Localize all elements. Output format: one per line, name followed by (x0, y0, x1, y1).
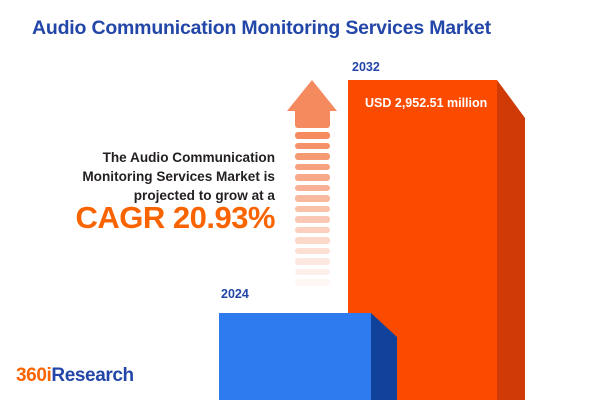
arrow-stripe (295, 206, 330, 213)
arrow-stripe (295, 248, 330, 255)
arrow-stripe (295, 195, 330, 202)
arrow-stripe (295, 164, 330, 171)
logo-360i: 360i (16, 365, 51, 386)
arrow-stripe (295, 290, 330, 297)
logo-research: Research (51, 365, 133, 386)
bar-2024-face (219, 313, 371, 400)
arrow-stripe (295, 216, 330, 223)
market-statement: The Audio Communication Monitoring Servi… (30, 148, 275, 205)
arrow-stripe (295, 237, 330, 244)
cagr-value: CAGR 20.93% (30, 200, 275, 236)
arrow-stripe (295, 227, 330, 234)
page-title: Audio Communication Monitoring Services … (32, 17, 491, 40)
arrow-gradient-stripes (295, 132, 330, 295)
arrow-stripe (295, 143, 330, 150)
arrow-stripe (295, 153, 330, 160)
arrow-stripe (295, 132, 330, 139)
bar-label-2032: 2032 (352, 60, 380, 74)
bar-2032-side (497, 80, 525, 400)
arrow-stripe (295, 269, 330, 276)
arrow-head (287, 80, 337, 111)
growth-arrow-icon (287, 80, 338, 295)
arrow-stripe (295, 185, 330, 192)
statement-line-1: The Audio Communication (30, 148, 275, 167)
bar-value-2032: USD 2,952.51 million (365, 96, 487, 110)
arrow-stripe (295, 279, 330, 286)
statement-line-2: Monitoring Services Market is (30, 167, 275, 186)
arrow-neck (295, 111, 330, 128)
infographic-canvas: Audio Communication Monitoring Services … (0, 0, 600, 400)
bar-2024 (219, 313, 371, 400)
bar-label-2024: 2024 (221, 287, 249, 301)
arrow-stripe (295, 258, 330, 265)
arrow-stripe (295, 174, 330, 181)
brand-logo: 360iResearch (16, 365, 134, 387)
